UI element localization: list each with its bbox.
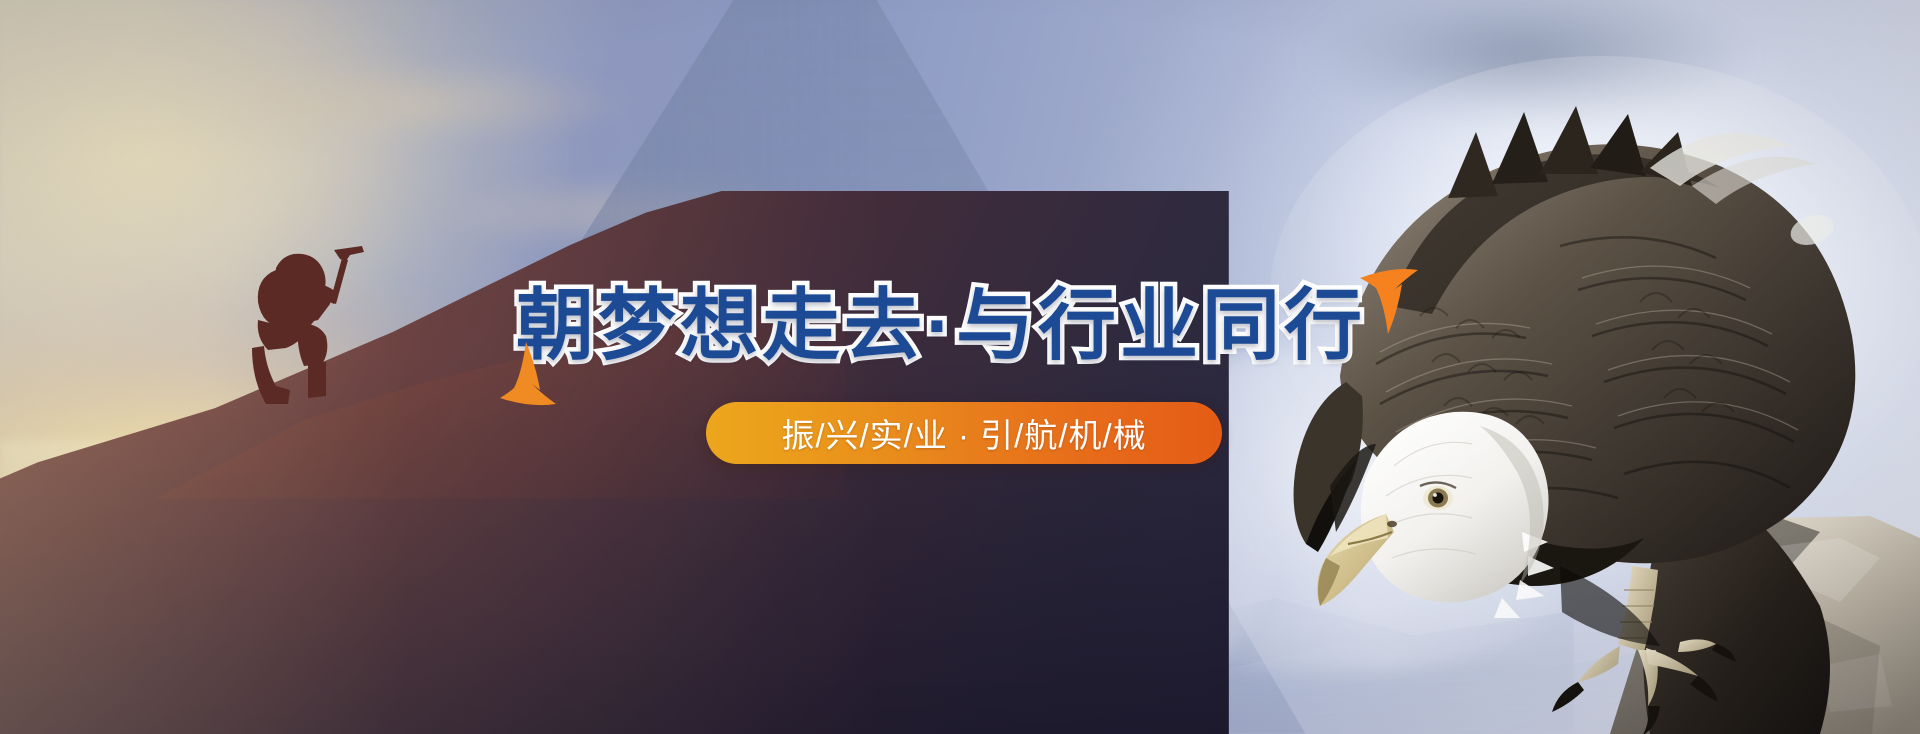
bald-eagle-image xyxy=(1180,46,1920,734)
warm-color-veil xyxy=(0,0,883,734)
mountain-climber-silhouette-icon xyxy=(222,228,382,418)
hero-banner: 朝梦想走去·与行业同行 振/兴/实/业 · 引/航/机/械 xyxy=(0,0,1920,734)
